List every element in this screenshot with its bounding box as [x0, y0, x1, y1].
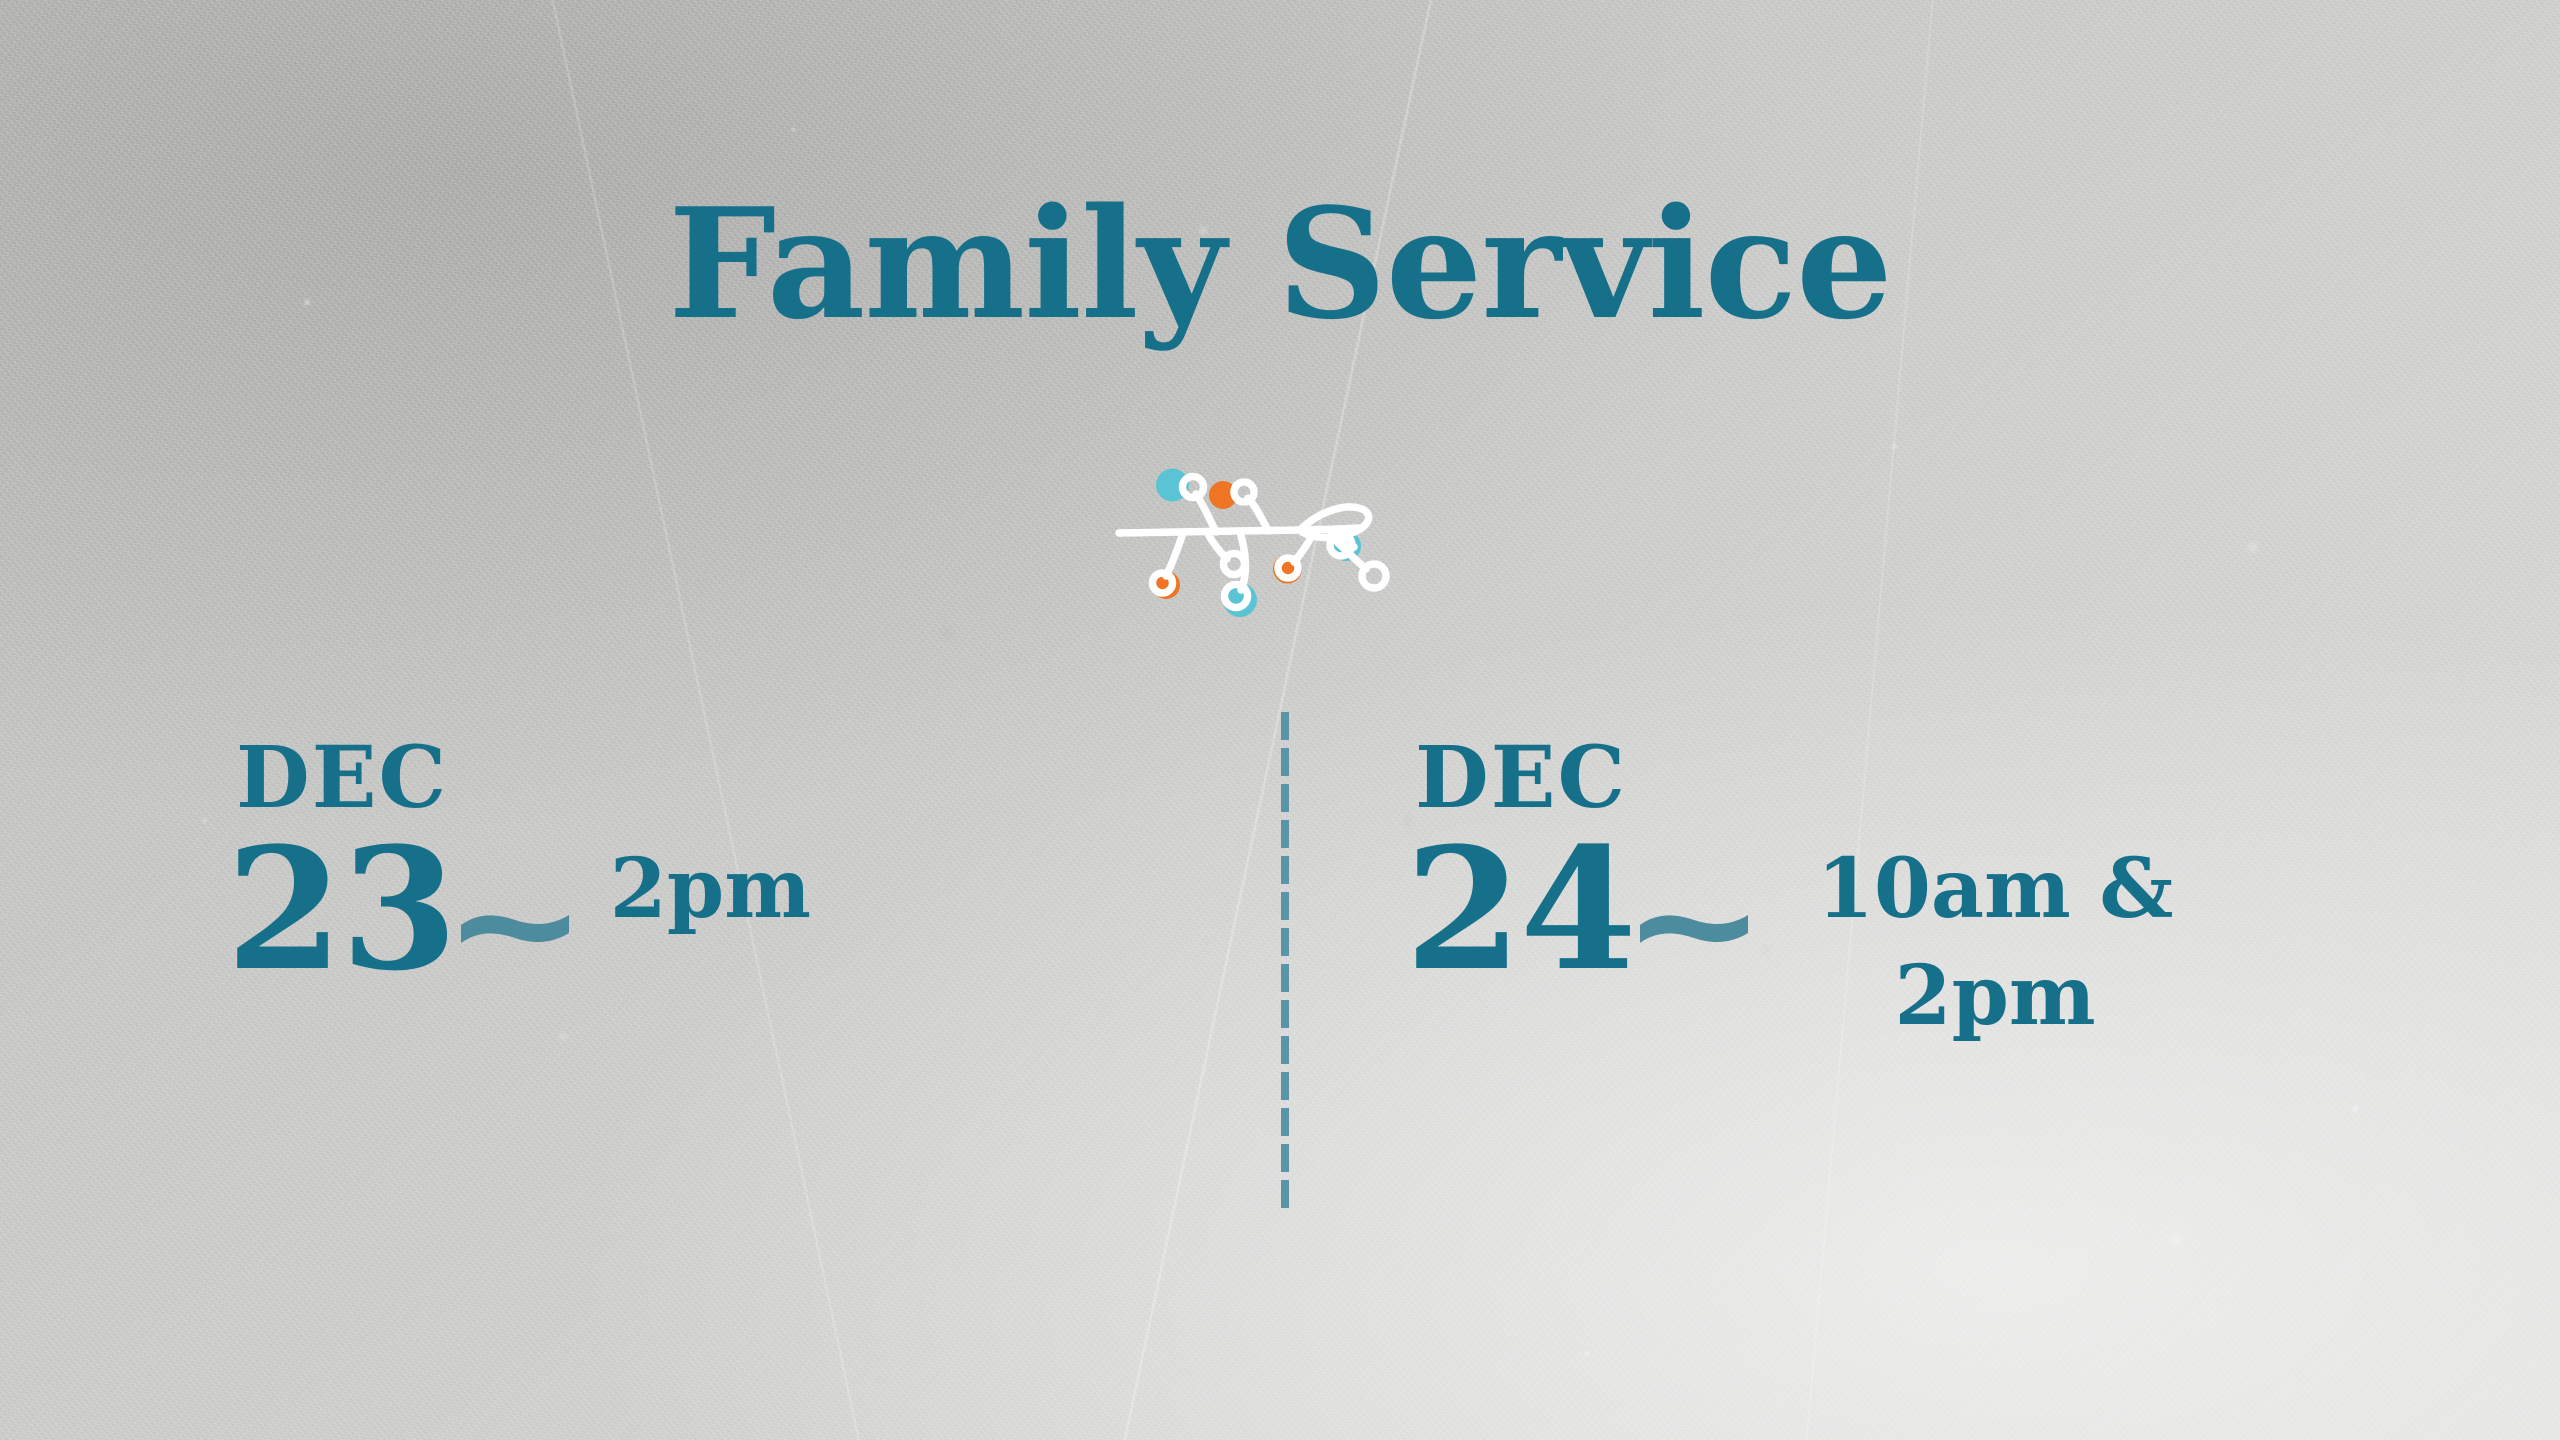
wavy-dash-icon: [459, 904, 571, 944]
decorative-branch-ornament: [1088, 452, 1472, 628]
service-times-dec-23: 2pm: [610, 836, 811, 943]
wavy-dash-separator-right: [1635, 854, 1753, 994]
date-day-label: 23: [226, 825, 456, 993]
page-title: Family Service: [0, 188, 2560, 340]
schedule-entry-dec-24: DEC 24 10am & 2pm: [1280, 736, 2560, 1049]
date-month-label: DEC: [226, 736, 456, 821]
date-day-label: 24: [1405, 825, 1635, 993]
schedule-entry-dec-23: DEC 23 2pm: [0, 736, 1280, 994]
wavy-dash-icon: [1638, 904, 1750, 944]
schedule-container: DEC 23 2pm DEC 24 10am &: [0, 736, 2560, 1049]
date-block-dec-24: DEC 24: [1405, 736, 1635, 993]
poster-canvas: Family Service: [0, 0, 2560, 1440]
service-time-line-2: 2pm: [1817, 943, 2174, 1050]
date-month-label: DEC: [1405, 736, 1635, 821]
service-times-dec-24: 10am & 2pm: [1817, 836, 2174, 1049]
service-time-line-1: 10am &: [1817, 836, 2174, 943]
branch-icon: [1088, 452, 1472, 628]
wavy-dash-separator-left: [456, 854, 574, 994]
date-block-dec-23: DEC 23: [226, 736, 456, 993]
